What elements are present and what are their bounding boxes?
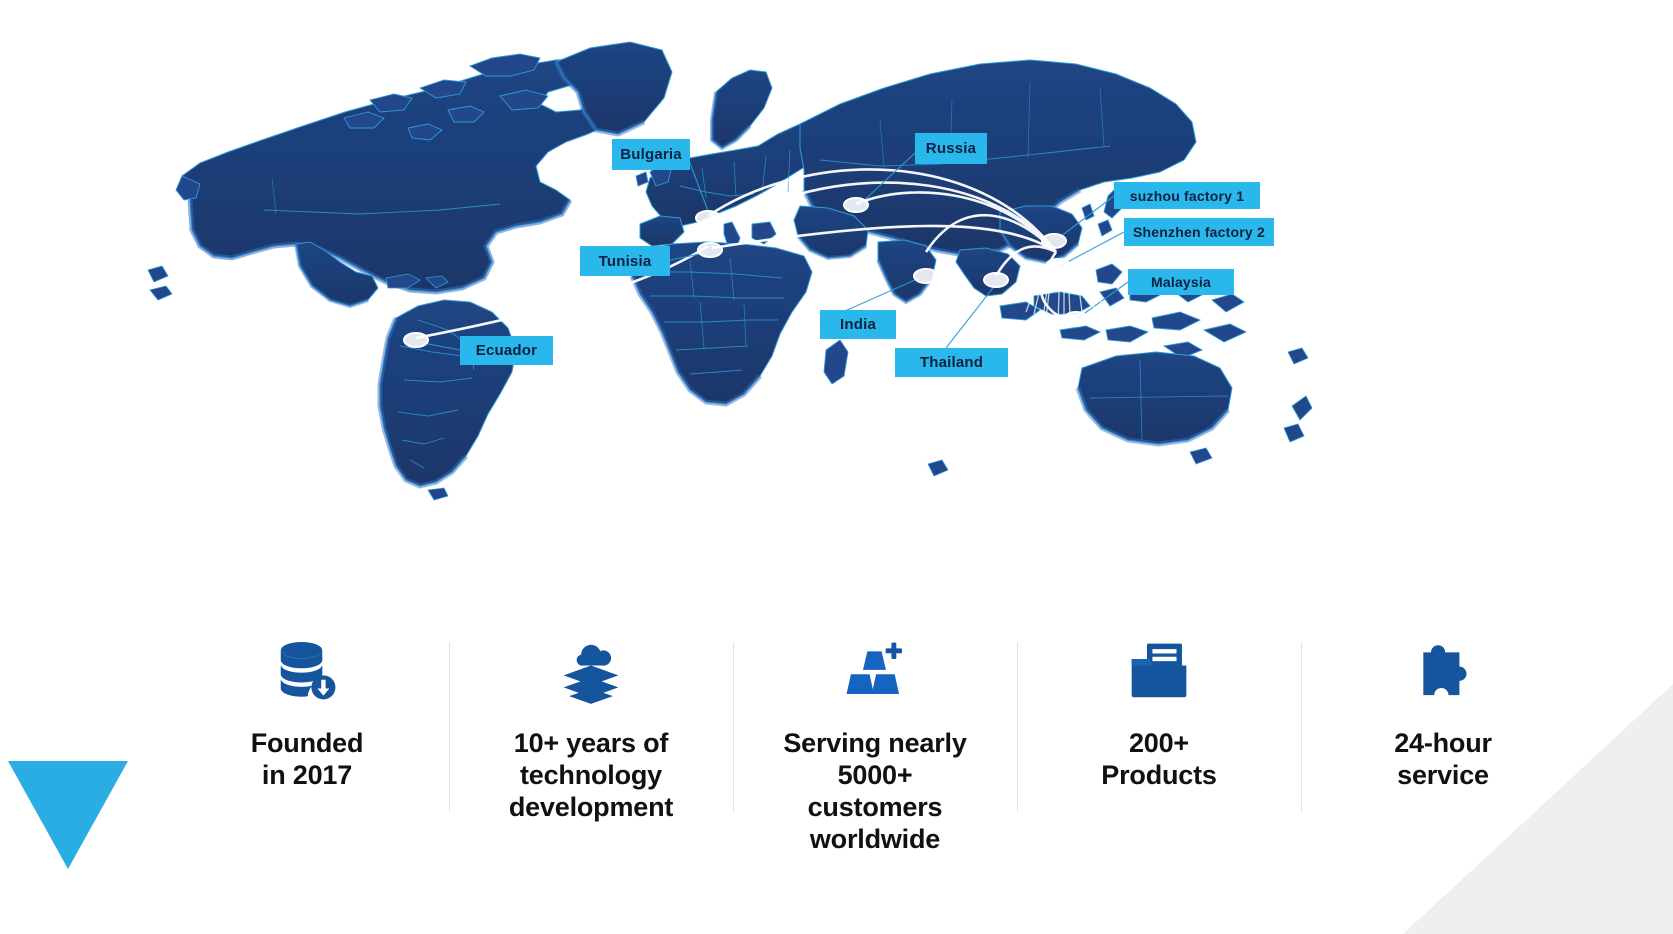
stat-founded-label: Founded in 2017 [251,728,364,792]
puzzle-piece-icon [1408,636,1478,706]
stat-customers-label: Serving nearly 5000+ customers worldwide [783,728,966,855]
layers-cloud-icon-svg [556,636,626,706]
map-label-tunisia-text: Tunisia [599,254,652,269]
database-download-icon-svg [272,636,342,706]
stat-products[interactable]: 200+ Products [1017,628,1301,792]
triangle-accent [8,761,128,869]
stat-technology-label: 10+ years of technology development [509,728,673,824]
map-label-thailand-text: Thailand [920,355,983,370]
blocks-plus-icon-svg [840,636,910,706]
map-label-india-text: India [840,317,876,332]
database-download-icon [272,636,342,706]
map-label-shenzhen-factory-2-text: Shenzhen factory 2 [1133,225,1265,239]
map-label-bulgaria-text: Bulgaria [620,147,682,162]
map-label-bulgaria[interactable]: Bulgaria [612,139,690,170]
map-label-shenzhen-factory-2[interactable]: Shenzhen factory 2 [1124,218,1274,246]
layers-cloud-icon [556,636,626,706]
map-label-malaysia[interactable]: Malaysia [1128,269,1234,295]
map-label-russia-text: Russia [926,141,976,156]
stat-service[interactable]: 24-hour service [1301,628,1585,792]
map-label-tunisia[interactable]: Tunisia [580,246,670,276]
stats-row: Founded in 2017 10+ years of technology … [165,628,1585,878]
map-label-malaysia-text: Malaysia [1151,275,1211,289]
map-label-ecuador-text: Ecuador [476,343,537,358]
map-label-india[interactable]: India [820,310,896,339]
map-data-streams [1026,264,1102,326]
stat-service-label: 24-hour service [1394,728,1492,792]
map-label-ecuador[interactable]: Ecuador [460,336,553,365]
map-label-thailand[interactable]: Thailand [895,348,1008,377]
stat-products-label: 200+ Products [1101,728,1216,792]
puzzle-piece-icon-svg [1408,636,1478,706]
landmass-south-america [380,300,516,500]
infographic-stage: Bulgaria Russia suzhou factory 1 Shenzhe… [0,0,1673,934]
map-label-suzhou-factory-1[interactable]: suzhou factory 1 [1114,182,1260,209]
stat-customers[interactable]: Serving nearly 5000+ customers worldwide [733,628,1017,855]
stat-founded[interactable]: Founded in 2017 [165,628,449,792]
stat-technology[interactable]: 10+ years of technology development [449,628,733,824]
map-label-suzhou-factory-1-text: suzhou factory 1 [1130,189,1244,203]
blocks-plus-icon [840,636,910,706]
folder-document-icon-svg [1124,636,1194,706]
folder-document-icon [1124,636,1194,706]
map-label-russia[interactable]: Russia [915,133,987,164]
